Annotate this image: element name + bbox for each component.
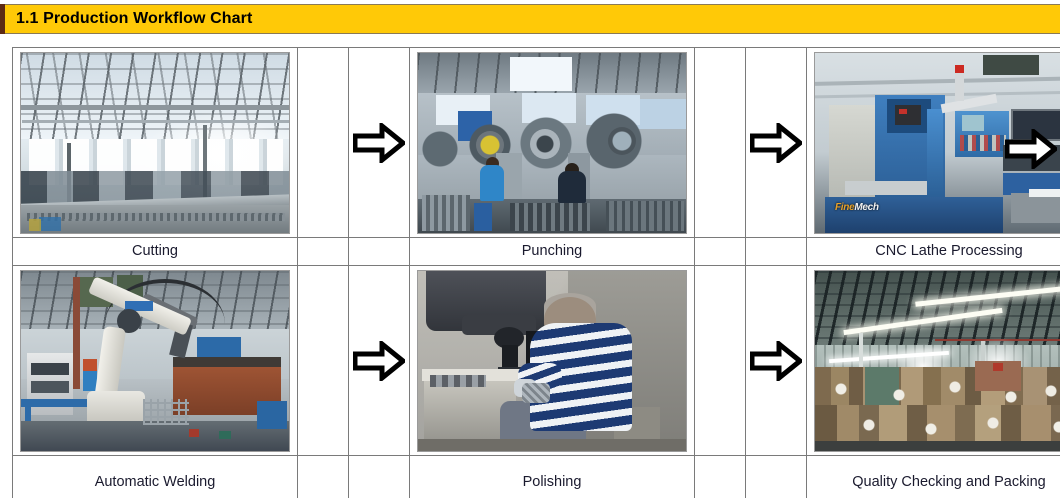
workflow-caption-row: Automatic Welding Polishing Quality Chec… <box>13 456 1060 498</box>
step-caption: Quality Checking and Packing <box>807 473 1060 493</box>
punching-press-photo <box>417 52 687 234</box>
workflow-step-caption-cell: Punching <box>410 238 695 266</box>
production-workflow-page: 1.1 Production Workflow Chart <box>0 0 1060 498</box>
arrow-wrap <box>746 266 806 455</box>
cutting-workshop-photo <box>20 52 290 234</box>
right-arrow-icon <box>1005 129 1057 169</box>
workflow-step-image-cell <box>410 266 695 456</box>
step-caption: Cutting <box>13 242 297 262</box>
spacer-cell <box>349 456 410 498</box>
page-title: 1.1 Production Workflow Chart <box>5 4 252 34</box>
polishing-worker-photo <box>417 270 687 452</box>
spacer-cell <box>695 456 746 498</box>
right-arrow-icon <box>750 123 802 163</box>
spacer-cell <box>746 238 807 266</box>
workflow-arrow-cell-2 <box>746 48 807 238</box>
section-header: 1.1 Production Workflow Chart <box>0 4 1060 34</box>
step-caption: Automatic Welding <box>13 473 297 493</box>
cnc-brand-label: FineMech <box>835 201 897 215</box>
spacer-cell <box>298 48 349 238</box>
workflow-arrow-cell-4 <box>746 266 807 456</box>
right-arrow-icon <box>353 123 405 163</box>
workflow-step-caption-cell: CNC Lathe Processing <box>807 238 1060 266</box>
workflow-table: FineMech Cutting Punching CNC Lath <box>12 47 1060 498</box>
right-arrow-icon <box>353 341 405 381</box>
workflow-arrow-cell-1 <box>349 48 410 238</box>
spacer-cell <box>695 48 746 238</box>
spacer-cell <box>298 456 349 498</box>
warehouse-packing-photo <box>814 270 1060 452</box>
workflow-step-caption-cell: Quality Checking and Packing <box>807 456 1060 498</box>
workflow-step-caption-cell: Automatic Welding <box>13 456 298 498</box>
spacer-cell <box>298 238 349 266</box>
spacer-cell <box>695 266 746 456</box>
right-arrow-icon <box>750 341 802 381</box>
workflow-image-row: FineMech <box>13 48 1060 238</box>
workflow-step-image-cell <box>13 266 298 456</box>
spacer-cell <box>298 266 349 456</box>
workflow-arrow-cell-3 <box>349 266 410 456</box>
workflow-step-image-cell <box>13 48 298 238</box>
workflow-step-image-cell <box>410 48 695 238</box>
spacer-cell <box>746 456 807 498</box>
workflow-step-caption-cell: Cutting <box>13 238 298 266</box>
welding-robot-photo <box>20 270 290 452</box>
spacer-cell <box>695 238 746 266</box>
workflow-caption-row: Cutting Punching CNC Lathe Processing <box>13 238 1060 266</box>
arrow-wrap <box>349 48 409 237</box>
workflow-step-image-cell <box>807 266 1060 456</box>
workflow-image-row <box>13 266 1060 456</box>
spacer-cell <box>349 238 410 266</box>
step-caption: Polishing <box>410 473 694 493</box>
step-caption: Punching <box>410 242 694 262</box>
arrow-wrap <box>349 266 409 455</box>
step-caption: CNC Lathe Processing <box>807 242 1060 262</box>
arrow-wrap <box>746 48 806 237</box>
workflow-arrow-cell-trailing <box>1003 125 1058 173</box>
workflow-step-caption-cell: Polishing <box>410 456 695 498</box>
